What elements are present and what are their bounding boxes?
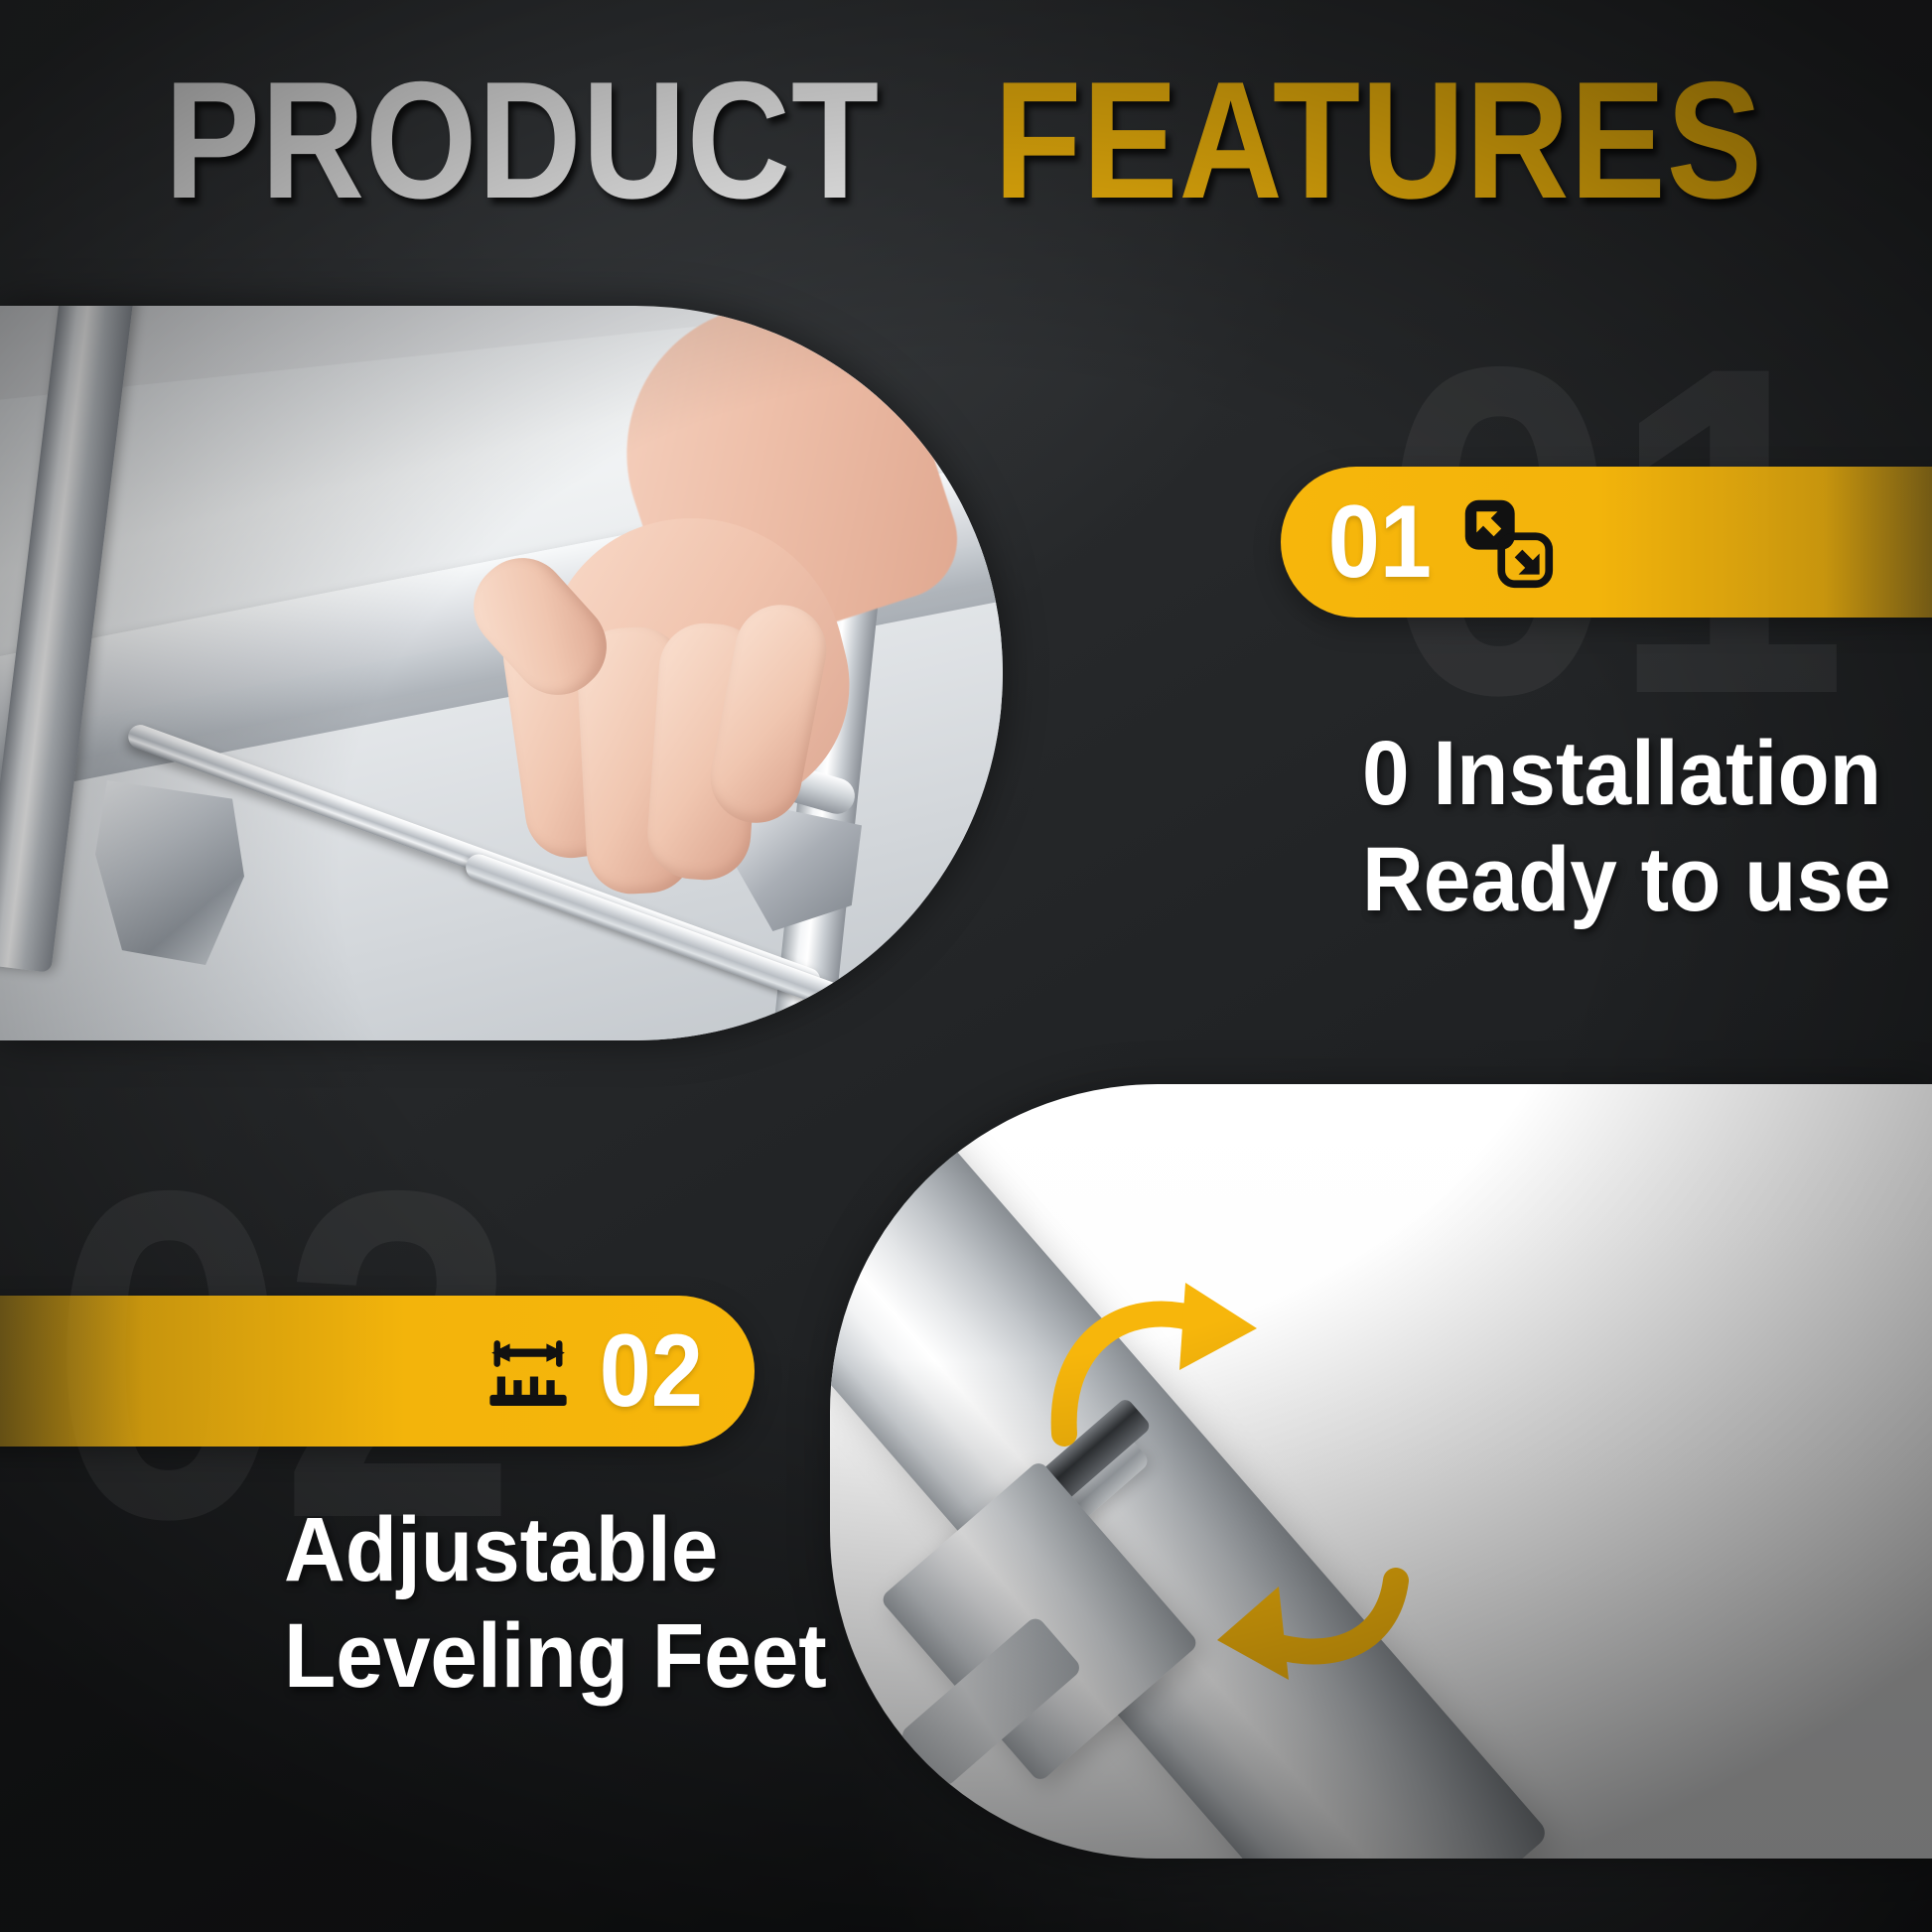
badge-number-01: 01	[1328, 490, 1432, 594]
feature-caption-02-line2: Leveling Feet	[284, 1603, 827, 1710]
feature-badge-02: 02	[0, 1296, 755, 1447]
page-title: PRODUCT FEATURES	[0, 46, 1932, 234]
feature-badge-01: 01	[1281, 467, 1932, 618]
rotation-arrows-icon	[830, 1084, 1932, 1859]
infographic-canvas: PRODUCT FEATURES 01 02 01	[0, 0, 1932, 1932]
feature-caption-01-line2: Ready to use	[1362, 827, 1891, 933]
title-word-features: FEATURES	[994, 57, 1763, 223]
badge-number-02: 02	[600, 1319, 703, 1423]
feature-photo-folding-mechanism	[0, 306, 1003, 1040]
feature-caption-01: 0 Installation Ready to use	[1362, 721, 1891, 932]
feature-photo-leveling-foot	[830, 1084, 1932, 1859]
feature-caption-02: Adjustable Leveling Feet	[284, 1497, 827, 1709]
feature-caption-01-line1: 0 Installation	[1362, 721, 1891, 827]
ruler-measure-icon	[483, 1325, 574, 1417]
expand-resize-icon	[1459, 494, 1555, 590]
feature-caption-02-line1: Adjustable	[284, 1497, 827, 1603]
title-word-product: PRODUCT	[164, 57, 879, 223]
human-hand	[397, 344, 913, 899]
